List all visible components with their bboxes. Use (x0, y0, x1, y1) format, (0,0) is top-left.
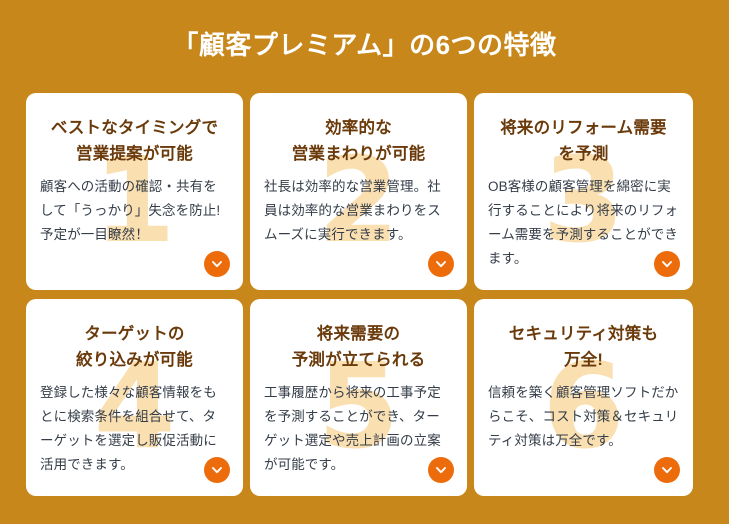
feature-card[interactable]: 4 ターゲットの 絞り込みが可能 登録した様々な顧客情報をもとに検索条件を組合せ… (26, 299, 243, 496)
page-title: 「顧客プレミアム」の6つの特徴 (0, 0, 729, 90)
card-title-line-1: ターゲットの (38, 321, 231, 347)
chevron-down-icon (660, 257, 674, 271)
feature-card-grid: 1 ベストなタイミングで 営業提案が可能 顧客への活動の確認・共有をして「うっか… (26, 93, 704, 496)
expand-button[interactable] (654, 457, 680, 483)
card-body-text: 社長は効率的な営業管理。社員は効率的な営業まわりをスムーズに実行できます。 (262, 175, 455, 247)
expand-button[interactable] (204, 251, 230, 277)
chevron-down-icon (434, 463, 448, 477)
chevron-down-icon (210, 257, 224, 271)
card-body-text: 工事履歴から将来の工事予定を予測することができ、ターゲット選定や売上計画の立案が… (262, 381, 455, 477)
card-body-text: OB客様の顧客管理を綿密に実行することにより将来のリフォーム需要を予測することが… (486, 175, 681, 271)
card-title-line-2: 営業提案が可能 (38, 141, 231, 167)
card-title-line-1: 将来需要の (262, 321, 455, 347)
expand-button[interactable] (428, 457, 454, 483)
card-title-line-1: 将来のリフォーム需要 (486, 115, 681, 141)
chevron-down-icon (660, 463, 674, 477)
card-title-line-2: 絞り込みが可能 (38, 347, 231, 373)
expand-button[interactable] (204, 457, 230, 483)
card-title-line-1: ベストなタイミングで (38, 115, 231, 141)
feature-card[interactable]: 5 将来需要の 予測が立てられる 工事履歴から将来の工事予定を予測することができ… (250, 299, 467, 496)
chevron-down-icon (210, 463, 224, 477)
feature-card[interactable]: 1 ベストなタイミングで 営業提案が可能 顧客への活動の確認・共有をして「うっか… (26, 93, 243, 290)
card-title-line-1: セキュリティ対策も (486, 321, 681, 347)
card-title-line-2: 営業まわりが可能 (262, 141, 455, 167)
card-title-line-1: 効率的な (262, 115, 455, 141)
expand-button[interactable] (428, 251, 454, 277)
card-title-line-2: を予測 (486, 141, 681, 167)
card-body-text: 登録した様々な顧客情報をもとに検索条件を組合せて、ターゲットを選定し販促活動に活… (38, 381, 231, 477)
card-body-text: 顧客への活動の確認・共有をして「うっかり」失念を防止!予定が一目瞭然！ (38, 175, 231, 247)
card-title-line-2: 予測が立てられる (262, 347, 455, 373)
card-title: ターゲットの 絞り込みが可能 (38, 321, 231, 373)
feature-card[interactable]: 2 効率的な 営業まわりが可能 社長は効率的な営業管理。社員は効率的な営業まわり… (250, 93, 467, 290)
card-title: ベストなタイミングで 営業提案が可能 (38, 115, 231, 167)
card-title: 効率的な 営業まわりが可能 (262, 115, 455, 167)
expand-button[interactable] (654, 251, 680, 277)
feature-card[interactable]: 3 将来のリフォーム需要 を予測 OB客様の顧客管理を綿密に実行することにより将… (474, 93, 693, 290)
feature-grid-page: 「顧客プレミアム」の6つの特徴 1 ベストなタイミングで 営業提案が可能 顧客へ… (0, 0, 729, 524)
feature-card[interactable]: 6 セキュリティ対策も 万全! 信頼を築く顧客管理ソフトだからこそ、コスト対策＆… (474, 299, 693, 496)
card-title: 将来のリフォーム需要 を予測 (486, 115, 681, 167)
card-title: セキュリティ対策も 万全! (486, 321, 681, 373)
card-title-line-2: 万全! (486, 347, 681, 373)
chevron-down-icon (434, 257, 448, 271)
card-title: 将来需要の 予測が立てられる (262, 321, 455, 373)
card-body-text: 信頼を築く顧客管理ソフトだからこそ、コスト対策＆セキュリティ対策は万全です。 (486, 381, 681, 453)
